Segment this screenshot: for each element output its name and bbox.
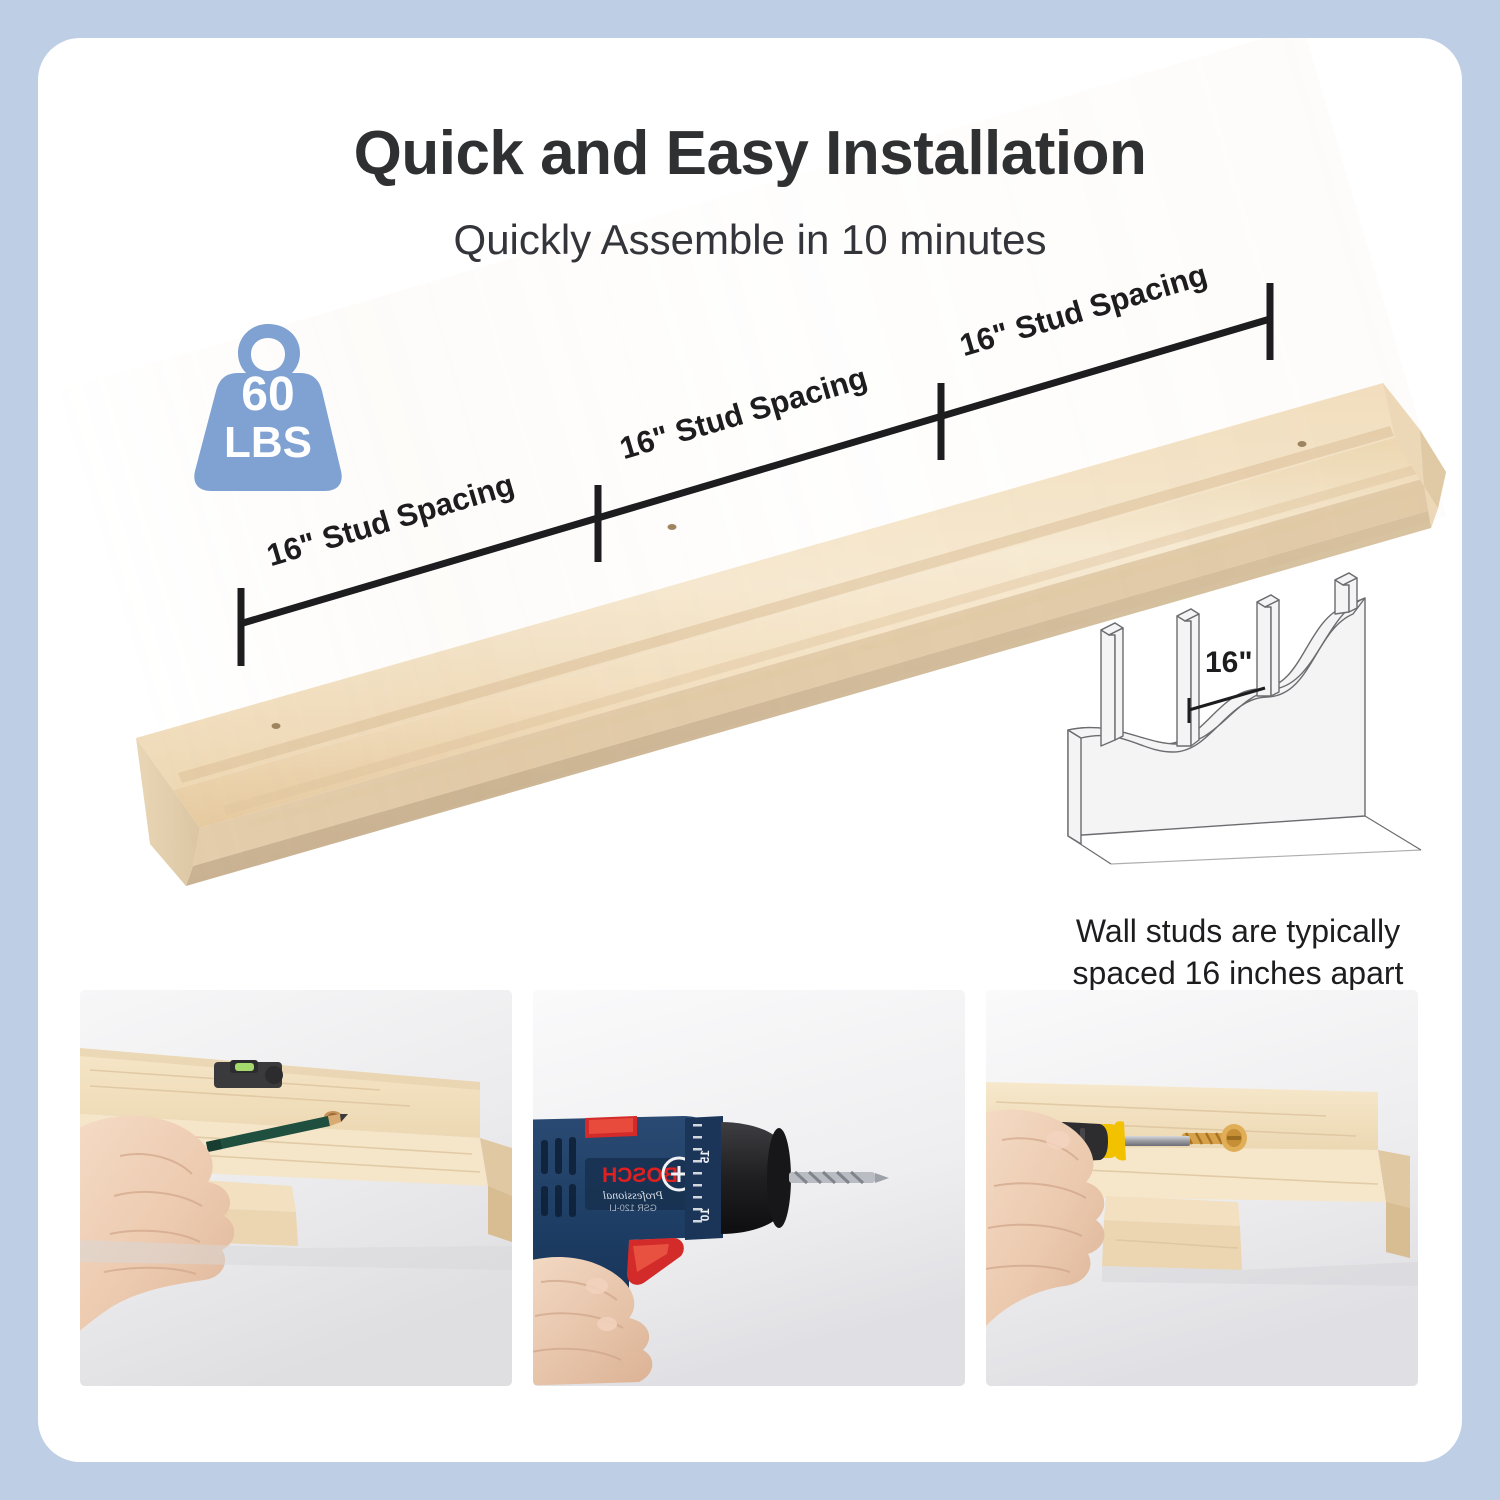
weight-value: 60 bbox=[188, 371, 348, 419]
weight-capacity-badge: 60 LBS bbox=[188, 321, 348, 493]
bubble-level-icon bbox=[214, 1060, 283, 1088]
stud-caption-line-1: Wall studs are typically bbox=[1076, 913, 1400, 949]
drill-clutch-number-15: 15 bbox=[698, 1150, 712, 1164]
screwdriver-shaft bbox=[1118, 1136, 1190, 1146]
infographic-page: Quick and Easy Installation Quickly Asse… bbox=[0, 0, 1500, 1500]
photo-drive-screw bbox=[986, 990, 1418, 1386]
stud-dimension-label: 16" bbox=[1205, 646, 1253, 679]
installation-step-photos: BOSCH Professional GSR 120-LI bbox=[80, 990, 1420, 1386]
drill-model-label: GSR 120-LI bbox=[609, 1203, 657, 1213]
stud-diagram-caption: Wall studs are typically spaced 16 inche… bbox=[1028, 910, 1448, 994]
weight-unit: LBS bbox=[188, 421, 348, 465]
content-card: Quick and Easy Installation Quickly Asse… bbox=[38, 38, 1462, 1462]
photo-drill-hole: BOSCH Professional GSR 120-LI bbox=[533, 990, 965, 1386]
drill-clutch-number-10: 10 bbox=[698, 1208, 712, 1222]
stud-caption-line-2: spaced 16 inches apart bbox=[1073, 955, 1404, 991]
wall-stud-diagram: 16" bbox=[1053, 568, 1433, 888]
drill-brand-sub-label: Professional bbox=[602, 1188, 664, 1202]
photo-level-and-mark bbox=[80, 990, 512, 1386]
